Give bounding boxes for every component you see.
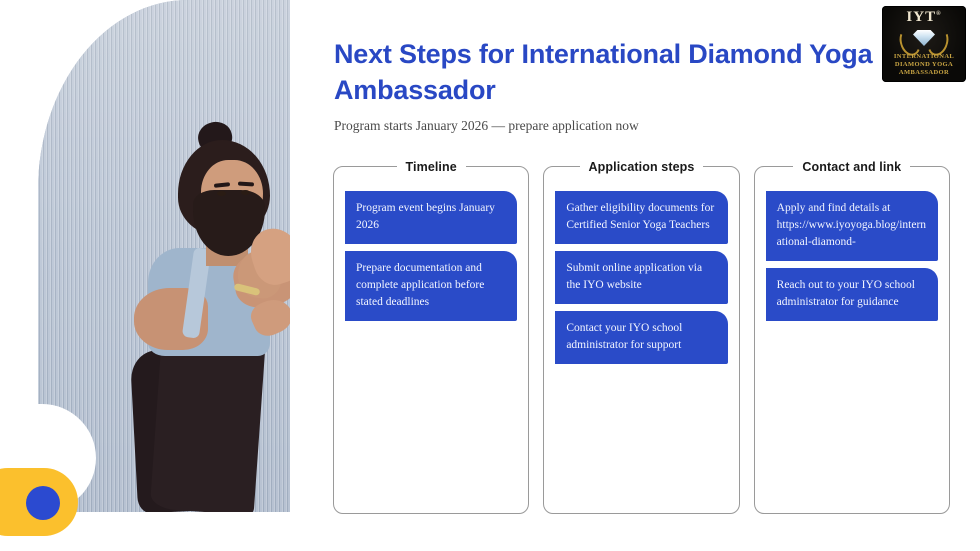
logo-mark-letters: IYT — [906, 9, 936, 25]
card-list: Gather eligibility documents for Certifi… — [555, 191, 727, 364]
decor-blue-dot — [26, 486, 60, 520]
logo-caption-line-2: DIAMOND YOGA — [882, 61, 966, 69]
info-card[interactable]: Submit online application via the IYO we… — [555, 251, 727, 304]
column-timeline: Timeline Program event begins January 20… — [333, 166, 529, 514]
logo-mark-text: IYT® — [882, 10, 966, 25]
logo-caption: INTERNATIONAL DIAMOND YOGA AMBASSADOR — [882, 53, 966, 77]
column-legend-label: Contact and link — [793, 160, 910, 174]
info-card[interactable]: Gather eligibility documents for Certifi… — [555, 191, 727, 244]
column-legend-label: Timeline — [397, 160, 466, 174]
column-legend: Application steps — [544, 158, 738, 176]
slide-canvas: IYT® INTERNATIONAL DIAMOND YOGA AMBASSAD… — [0, 0, 980, 551]
figure-eye-left — [217, 191, 226, 196]
info-card[interactable]: Program event begins January 2026 — [345, 191, 517, 244]
column-legend: Contact and link — [755, 158, 949, 176]
logo-registered-icon: ® — [936, 11, 941, 17]
info-card[interactable]: Reach out to your IYO school administrat… — [766, 268, 938, 321]
card-list: Program event begins January 2026 Prepar… — [345, 191, 517, 321]
column-application-steps: Application steps Gather eligibility doc… — [543, 166, 739, 514]
column-contact-and-link: Contact and link Apply and find details … — [754, 166, 950, 514]
column-legend: Timeline — [334, 158, 528, 176]
brand-logo-badge: IYT® INTERNATIONAL DIAMOND YOGA AMBASSAD… — [882, 6, 966, 82]
columns-container: Timeline Program event begins January 20… — [333, 166, 950, 514]
logo-caption-line-1: INTERNATIONAL — [882, 53, 966, 61]
column-legend-label: Application steps — [580, 160, 704, 174]
figure-eye-right — [241, 190, 250, 195]
logo-caption-line-3: AMBASSADOR — [882, 69, 966, 77]
page-subtitle: Program starts January 2026 — prepare ap… — [334, 117, 894, 135]
info-card[interactable]: Prepare documentation and complete appli… — [345, 251, 517, 321]
card-list: Apply and find details at https://www.iy… — [766, 191, 938, 321]
page-title: Next Steps for International Diamond Yog… — [334, 36, 894, 108]
info-card[interactable]: Contact your IYO school administrator fo… — [555, 311, 727, 364]
info-card[interactable]: Apply and find details at https://www.iy… — [766, 191, 938, 261]
